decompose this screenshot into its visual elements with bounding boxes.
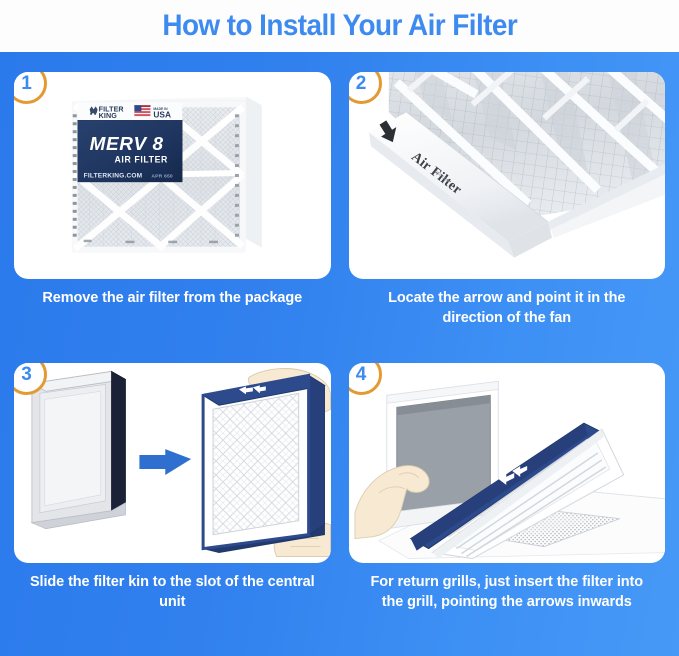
page-title: How to Install Your Air Filter [162,9,517,43]
insert-direction-arrow-icon [139,449,191,475]
step-4-card: 4 [349,363,666,563]
svg-text:AIR FILTER: AIR FILTER [115,155,169,165]
step-2-number: 2 [356,74,367,93]
step-3-number: 3 [21,365,32,384]
step-1: FILTER KING [14,72,331,359]
step-1-artwork: FILTER KING [14,72,331,279]
steps-grid: FILTER KING [0,52,679,656]
svg-text:KING: KING [99,112,118,120]
step-4-number: 4 [356,365,367,384]
step-2-caption: Locate the arrow and point it in the dir… [349,288,666,328]
navy-framed-filter-illustration [203,375,324,552]
step-1-caption: Remove the air filter from the package [14,288,331,308]
svg-text:USA: USA [153,109,171,119]
step-3-artwork [14,363,331,563]
step-2-artwork: Air Filter AIRFLOW [349,72,666,279]
step-4: 4 For return grills, just insert the fil… [349,363,666,650]
step-2-card: Air Filter AIRFLOW 2 [349,72,666,279]
svg-text:MERV 8: MERV 8 [90,134,164,155]
step-3-caption: Slide the filter kin to the slot of the … [14,572,331,612]
step-4-caption: For return grills, just insert the filte… [349,572,666,612]
step-3: 3 Slide the filter kin to the slot of th… [14,363,331,650]
title-bar: How to Install Your Air Filter [0,0,679,52]
step-2: Air Filter AIRFLOW 2 Locate the arrow an… [349,72,666,359]
step-1-card: FILTER KING [14,72,331,279]
infographic-root: How to Install Your Air Filter [0,0,679,656]
step-4-artwork [349,363,666,563]
step-3-card: 3 [14,363,331,563]
svg-text:APR 650: APR 650 [151,173,173,179]
central-unit-illustration [32,371,126,528]
svg-text:FILTERKING.COM: FILTERKING.COM [84,172,143,179]
step-1-number: 1 [21,74,32,93]
